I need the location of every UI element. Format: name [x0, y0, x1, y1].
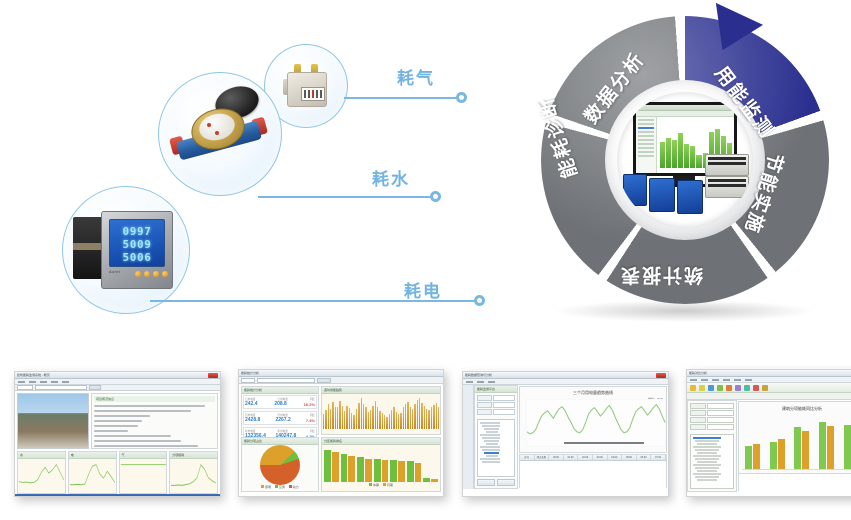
bar — [396, 412, 397, 430]
project-info-heading: 项目概况信息 — [94, 396, 215, 402]
callout-label-water: 耗水 — [372, 165, 410, 190]
tree-header: 能耗监测平台 — [475, 386, 517, 393]
tree-node[interactable] — [482, 437, 500, 439]
tree-node[interactable] — [480, 446, 500, 448]
pie-legend: 照明 空调 动力 — [242, 485, 318, 489]
power-meter-buttons[interactable] — [135, 271, 168, 277]
bar — [778, 439, 785, 469]
kpi-compare: 208.8 — [274, 401, 287, 407]
rank-legend: 本期 同期 — [322, 483, 440, 487]
bar — [794, 427, 801, 469]
power-meter-bubble: 0997 5009 5006 Acrel — [62, 186, 190, 314]
bar — [428, 410, 429, 429]
bar — [745, 446, 752, 469]
callout-label-gas: 耗气 — [397, 64, 435, 89]
mini-line-svg — [170, 459, 217, 493]
rank-bars — [322, 445, 440, 483]
bar — [356, 409, 357, 429]
energy-pie-chart — [260, 445, 300, 485]
project-info-panel: 项目概况信息 — [91, 393, 218, 449]
hub-bar — [678, 133, 683, 168]
wheel-segment-reports[interactable]: 统计报表 — [619, 263, 703, 290]
bar — [379, 411, 380, 429]
close-icon[interactable] — [656, 373, 666, 378]
mini-line-svg — [69, 459, 116, 493]
tree-node[interactable] — [695, 458, 719, 460]
kpi-compare: 2267.2 — [275, 417, 290, 423]
compare-bar-chart: 建筑分项能耗同比分析 — [738, 401, 851, 491]
bar-group — [341, 446, 356, 482]
tree-node[interactable] — [482, 449, 500, 451]
table-column-header: 01:00 — [564, 455, 579, 460]
bar-group — [407, 446, 422, 482]
bar — [819, 422, 826, 469]
mini-line-chart: 水 — [17, 451, 66, 494]
window-title: 能耗数据查询与分析 — [465, 373, 656, 377]
tree-node[interactable] — [480, 422, 500, 424]
bar — [393, 407, 394, 429]
bar-group — [792, 416, 813, 469]
overview-chart-row: 水电气分项能耗 — [15, 451, 220, 494]
mini-line-svg — [18, 459, 65, 493]
legend-item: 本期 — [369, 483, 379, 487]
table-column-header: 06:00 — [637, 455, 652, 460]
bar — [332, 402, 333, 429]
category-tree[interactable] — [690, 434, 734, 489]
bar — [382, 460, 389, 482]
screenshot-overview[interactable]: 建筑能耗监测系统 - 概况 项目概况信息 水电气分项能耗 — [14, 371, 221, 497]
gas-leader-dot — [456, 92, 467, 103]
bar — [337, 407, 338, 429]
dashboard-filterbar[interactable] — [239, 377, 443, 384]
tree-node[interactable] — [482, 461, 500, 463]
gas-leader-line — [344, 97, 462, 99]
bar — [410, 407, 411, 429]
bar — [358, 403, 359, 429]
tree-node[interactable] — [486, 455, 498, 457]
bar — [419, 398, 420, 429]
tree-node[interactable] — [697, 452, 717, 454]
bar — [330, 409, 331, 429]
bar-group — [742, 416, 763, 469]
bar-group — [816, 416, 837, 469]
kpi-panel-header: 能耗统计分析 — [242, 387, 318, 394]
data-table-panel[interactable]: 序号测点名称00:0001:0002:0003:0004:0005:0006:0… — [519, 454, 667, 488]
close-icon[interactable] — [431, 371, 441, 376]
measurement-point-tree[interactable] — [477, 419, 515, 477]
legend-item: 空调 — [275, 485, 285, 489]
kpi-row: 月用电量月用电量同比2428.82267.27.4% — [243, 411, 317, 425]
tree-node[interactable] — [695, 476, 719, 478]
tree-node[interactable] — [695, 467, 719, 469]
bar-group — [767, 416, 788, 469]
screenshot-compare[interactable]: 能耗对比分析 建筑分项能耗同比分析 — [686, 369, 851, 497]
table-column-header: 04:00 — [608, 455, 623, 460]
table-column-header: 00:00 — [549, 455, 564, 460]
tree-node[interactable] — [693, 464, 721, 466]
bar — [398, 414, 399, 429]
bar — [424, 406, 425, 429]
tree-node[interactable] — [486, 431, 498, 433]
pie-title: 能耗分项占比 — [242, 438, 318, 445]
mini-chart-title: 水 — [18, 452, 65, 459]
screenshot-trend[interactable]: 能耗数据查询与分析 能耗监测平台 三个月用电量 — [462, 371, 669, 497]
bar — [414, 404, 415, 429]
bar — [390, 460, 397, 483]
bar — [421, 403, 422, 429]
lcd-line-1: 0997 — [110, 225, 164, 238]
bar — [384, 415, 385, 429]
tree-node[interactable] — [693, 455, 721, 457]
table-column-header: 测点名称 — [535, 455, 550, 460]
hub-bar — [672, 140, 677, 168]
poster-canvas: 0997 5009 5006 Acrel 耗气 耗水 耗电 — [0, 0, 851, 520]
bar — [426, 409, 427, 429]
bar — [412, 409, 413, 429]
window-titlebar: 能耗统计分析 — [239, 370, 443, 377]
tree-node[interactable] — [482, 425, 500, 427]
bar — [372, 406, 373, 429]
chart-scrollbar[interactable] — [564, 442, 644, 444]
bar — [339, 401, 340, 429]
query-tree-panel[interactable]: 能耗监测平台 — [474, 385, 518, 489]
lcd-line-3: 5006 — [110, 251, 164, 264]
window-title: 能耗统计分析 — [241, 371, 431, 375]
window-title: 建筑能耗监测系统 - 概况 — [17, 373, 208, 377]
bar — [753, 444, 760, 469]
kpi-row: 日用电量日用电量同比242.4208.816.2% — [243, 395, 317, 409]
tree-node[interactable] — [695, 440, 719, 442]
bar-group — [423, 446, 438, 482]
bar — [405, 404, 406, 429]
bar-group — [841, 416, 851, 469]
mini-chart-title: 分项能耗 — [170, 452, 217, 459]
tree-node[interactable] — [486, 443, 498, 445]
bar — [375, 401, 376, 429]
bar — [344, 411, 345, 429]
bar — [348, 456, 355, 482]
load-curve-svg — [526, 399, 666, 447]
bar-group — [390, 446, 405, 482]
hub-device-meter-3 — [677, 180, 703, 214]
window-titlebar: 能耗对比分析 — [687, 370, 851, 377]
bar — [407, 461, 414, 482]
power-meter-lcd: 0997 5009 5006 — [109, 219, 165, 267]
bar — [403, 407, 404, 429]
mini-line-chart: 分项能耗 — [169, 451, 218, 494]
lcd-line-2: 5009 — [110, 238, 164, 251]
legend-item: 动力 — [289, 485, 299, 489]
tree-node[interactable] — [693, 446, 721, 448]
hourly-bar-panel: 逐时用能趋势 — [321, 386, 441, 435]
bar — [323, 414, 324, 429]
legend-item: 照明 — [261, 485, 271, 489]
tree-node[interactable] — [697, 479, 717, 481]
bar — [386, 417, 387, 429]
tree-node[interactable] — [693, 473, 721, 475]
compare-bar-groups — [742, 416, 851, 470]
kpi-panel: 能耗统计分析 日用电量日用电量同比242.4208.816.2%月用电量月用电量… — [241, 386, 319, 435]
bar — [335, 407, 336, 429]
power-leader-dot — [474, 295, 485, 306]
bar-group — [374, 446, 389, 482]
tree-node[interactable] — [480, 458, 500, 460]
hub-device-meter-1 — [623, 174, 647, 206]
bar-group — [324, 446, 339, 482]
tree-node[interactable] — [693, 437, 721, 439]
kpi-value: 2428.8 — [245, 417, 260, 423]
tree-node[interactable] — [697, 443, 717, 445]
bar — [363, 404, 364, 429]
bar — [438, 407, 439, 429]
hub-device-din-2 — [705, 176, 749, 198]
tree-node[interactable] — [484, 428, 499, 430]
bar — [431, 479, 438, 482]
bar — [365, 459, 372, 482]
bar — [417, 400, 418, 429]
mini-line-chart: 电 — [68, 451, 117, 494]
table-column-header: 05:00 — [622, 455, 637, 460]
bar — [324, 450, 331, 482]
rank-title: 分区能耗排名 — [322, 438, 440, 445]
bar — [382, 413, 383, 429]
window-titlebar: 建筑能耗监测系统 - 概况 — [15, 372, 220, 379]
window-titlebar: 能耗数据查询与分析 — [463, 372, 668, 379]
water-leader-line — [258, 196, 436, 198]
close-icon[interactable] — [208, 373, 218, 378]
bar — [398, 461, 405, 482]
hourly-bar-title: 逐时用能趋势 — [322, 387, 440, 394]
table-column-header: 02:00 — [578, 455, 593, 460]
kpi-value: 242.4 — [245, 401, 258, 407]
mini-line-chart: 气 — [119, 451, 168, 494]
bar — [353, 415, 354, 429]
load-curve-title: 三个月用电量趋势曲线 — [520, 387, 666, 396]
side-strip — [463, 385, 474, 489]
tree-node[interactable] — [695, 449, 719, 451]
tree-node[interactable] — [480, 434, 500, 436]
callout-label-power: 耗电 — [404, 277, 442, 302]
screenshot-dashboard[interactable]: 能耗统计分析 能耗统计分析 日用电量日用电量同比242.4208.816.2%月… — [238, 369, 444, 497]
window-title: 能耗对比分析 — [689, 371, 851, 375]
bar — [332, 452, 339, 482]
window-toolbar[interactable] — [687, 383, 851, 393]
bar — [415, 463, 422, 482]
gas-meter-icon — [283, 63, 329, 107]
kpi-delta: 16.2% — [304, 402, 315, 407]
hub-bar — [696, 155, 701, 169]
bar — [368, 412, 369, 430]
building-photo — [17, 393, 89, 449]
bar — [389, 414, 390, 429]
bar — [361, 398, 362, 429]
bar — [827, 426, 834, 469]
bar — [436, 403, 437, 429]
hourly-bars — [322, 394, 440, 430]
tree-node[interactable] — [697, 470, 717, 472]
bar — [377, 407, 378, 429]
bar — [349, 408, 350, 429]
hub-device-din-1 — [705, 154, 749, 176]
legend-item: 同期 — [383, 483, 393, 487]
kpi-delta: 7.4% — [306, 418, 315, 423]
bar — [328, 404, 329, 429]
wheel-hub-illustration — [617, 92, 753, 228]
table-column-header: 03:00 — [593, 455, 608, 460]
hub-bar — [666, 138, 671, 168]
pie-panel: 能耗分项占比 照明 空调 动力 — [241, 437, 319, 492]
bar — [431, 407, 432, 429]
bar — [802, 431, 809, 469]
bar — [423, 478, 430, 482]
hub-bar — [684, 144, 689, 168]
bar — [400, 413, 401, 429]
tree-node[interactable] — [697, 461, 717, 463]
hub-bar — [690, 146, 695, 169]
water-meter-bubble — [158, 72, 282, 196]
energy-management-wheel: 用能监测 数据分析 能耗诊断 统计报表 节能实施 — [533, 12, 839, 324]
bar — [342, 406, 343, 429]
tree-node[interactable] — [484, 440, 499, 442]
table-column-header: 07:00 — [651, 455, 666, 460]
water-meter-icon — [171, 87, 267, 173]
bar — [370, 410, 371, 429]
hub-device-meter-2 — [649, 178, 675, 212]
power-meter-icon: 0997 5009 5006 Acrel — [73, 211, 183, 289]
water-leader-dot — [430, 191, 441, 202]
bar — [351, 413, 352, 429]
mini-line-svg — [120, 459, 167, 493]
power-meter-brand: Acrel — [109, 269, 120, 274]
category-tree-panel[interactable] — [687, 400, 737, 492]
table-column-header: 序号 — [520, 455, 535, 460]
load-curve-chart: 三个月用电量趋势曲线 单位：kWh — [519, 386, 667, 453]
window-statusbar — [15, 494, 220, 497]
bar — [770, 442, 777, 470]
mini-chart-title: 电 — [69, 452, 116, 459]
hub-tree-panel — [636, 117, 657, 173]
bar-group — [357, 446, 372, 482]
bar — [365, 407, 366, 429]
bar — [374, 459, 381, 482]
bar — [407, 402, 408, 429]
bar — [391, 410, 392, 429]
hub-bar — [660, 142, 665, 168]
bar — [325, 410, 326, 429]
bar — [346, 406, 347, 429]
mini-chart-title: 气 — [120, 452, 167, 459]
tree-node[interactable] — [484, 452, 499, 454]
bar — [341, 454, 348, 482]
bar — [433, 405, 434, 429]
rank-panel: 分区能耗排名 本期 同期 — [321, 437, 441, 492]
compare-chart-title: 建筑分项能耗同比分析 — [739, 402, 851, 412]
bar — [844, 425, 851, 469]
bar — [357, 457, 364, 482]
